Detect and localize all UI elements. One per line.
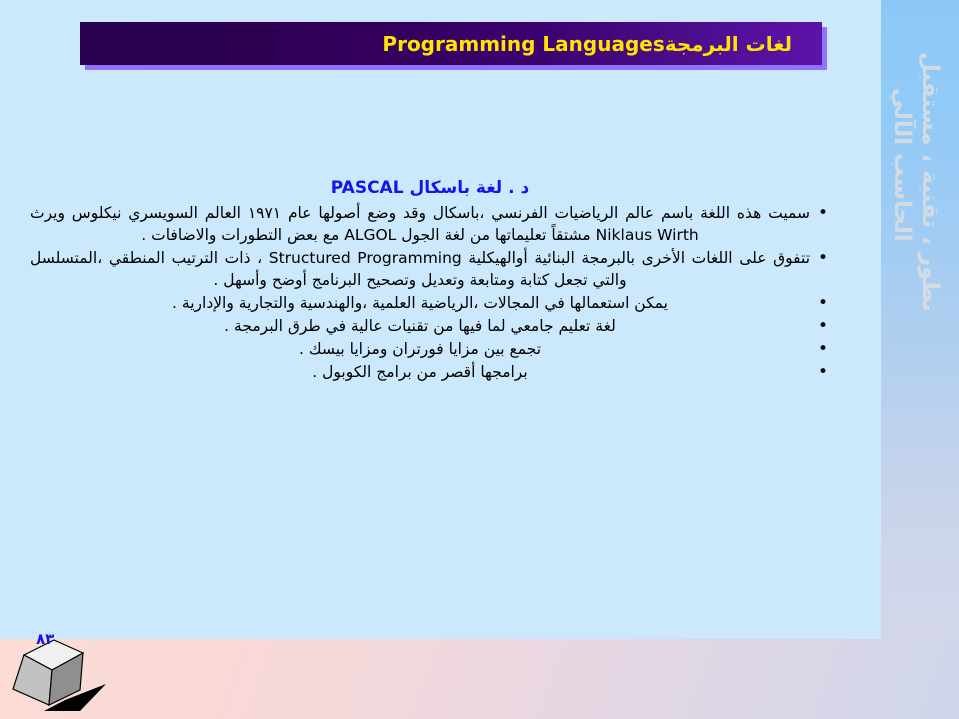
section-subheading: د . لغة باسكال PASCAL [30,178,830,198]
list-item: تجمع بين مزايا فورتران ومزايا بيسك . [30,338,830,360]
slide-canvas: تطور ، تقنية ، مستقبل الحاسب الآلي Progr… [0,0,959,719]
keycap-3d-icon [8,628,138,714]
page-title: Programming Languagesلغات البرمجة [382,32,806,56]
list-item: يمكن استعمالها في المجالات ،الرياضية الع… [30,292,830,314]
slide-content: د . لغة باسكال PASCAL سميت هذه اللغة باس… [30,178,830,384]
title-bar: Programming Languagesلغات البرمجة [80,22,822,65]
page-title-english: Programming Languages [382,32,664,56]
sidebar-vertical-text: تطور ، تقنية ، مستقبل الحاسب الآلي [881,0,959,639]
list-item: برامجها أقصر من برامج الكوبول . [30,361,830,383]
list-item: لغة تعليم جامعي لما فيها من تقنيات عالية… [30,315,830,337]
list-item: تتفوق على اللغات الأخرى بالبرمجة البنائي… [30,247,830,291]
sidebar-text-line-2: الحاسب الآلي [889,88,915,242]
bottom-gradient-band [0,638,959,719]
page-title-arabic: لغات البرمجة [665,32,792,56]
list-item: سميت هذه اللغة باسم عالم الرياضيات الفرن… [30,202,830,246]
sidebar-text-line-1: تطور ، تقنية ، مستقبل [917,52,943,312]
bullet-list: سميت هذه اللغة باسم عالم الرياضيات الفرن… [30,202,830,383]
